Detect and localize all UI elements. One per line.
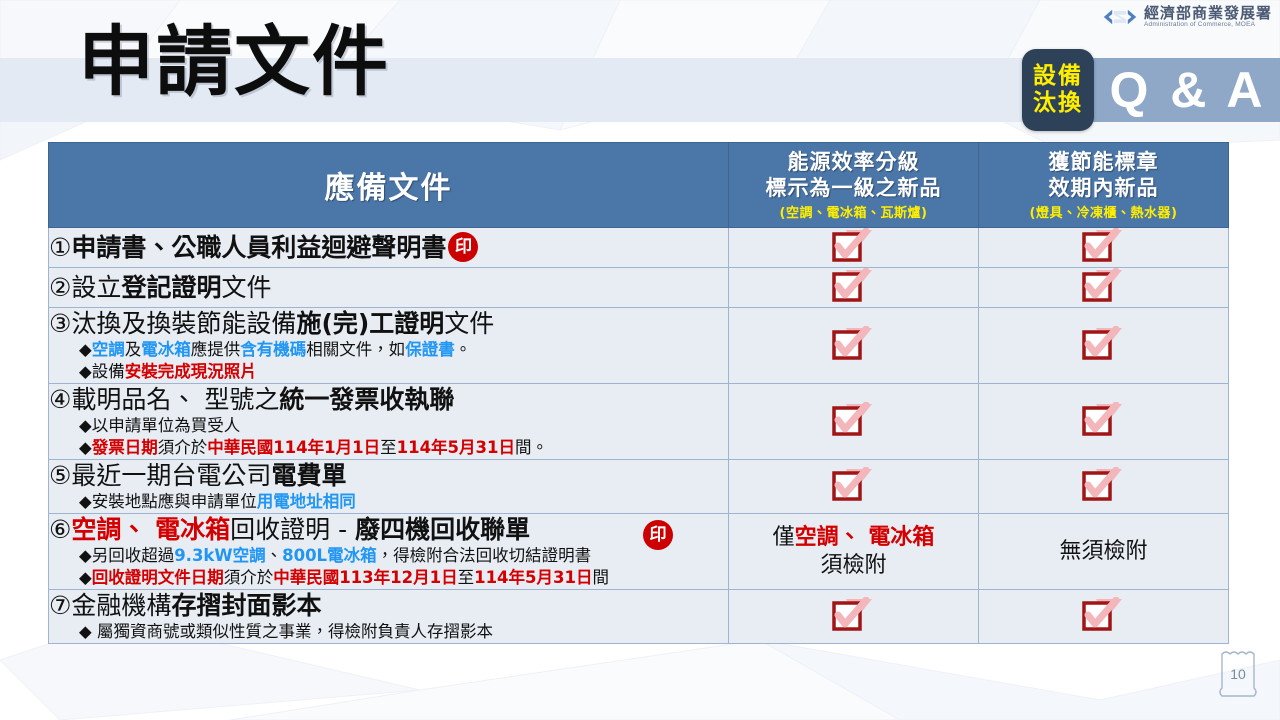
document-note-4-1-seg-0: ◆ xyxy=(79,416,92,435)
document-note-6-2-seg-5: 114年5月31日 xyxy=(474,568,592,587)
requirement-energy-grade-row-1 xyxy=(729,228,979,268)
document-index-3: ③ xyxy=(49,309,71,338)
col-header-energy-label-line2: 效期內新品 xyxy=(983,175,1224,201)
document-note-3-1: ◆空調及電冰箱應提供含有機碼相關文件，如保證書。 xyxy=(79,339,728,361)
document-note-3-1-seg-8: 。 xyxy=(455,340,472,359)
document-note-7-1-seg-0: ◆ xyxy=(79,622,97,641)
document-cell-2: ②設立登記證明文件 xyxy=(49,268,729,308)
document-note-5-1-seg-2: 用電地址相同 xyxy=(257,492,356,511)
document-note-7-1-seg-1: 屬獨資商號或類似性質之事業，得檢附負責人存摺影本 xyxy=(97,622,493,641)
document-title-2-seg-0: 設立 xyxy=(71,273,121,302)
requirement-energy-label-row-6-line-1: 無須檢附 xyxy=(979,538,1228,566)
checkbox-checked-icon xyxy=(832,268,876,302)
document-note-3-1-seg-1: 空調 xyxy=(92,340,125,359)
table-row: ②設立登記證明文件 xyxy=(49,268,1229,308)
table-header-row: 應備文件 能源效率分級 標示為一級之新品 (空調、電冰箱、瓦斯爐) 獲節能標章 … xyxy=(49,143,1229,228)
table-body: ①申請書、公職人員利益迴避聲明書印②設立登記證明文件③汰換及換裝節能設備施(完)… xyxy=(49,228,1229,644)
document-note-6-1-seg-0: ◆ xyxy=(79,546,92,565)
table-row: ⑥空調、 電冰箱回收證明 - 廢四機回收聯單◆另回收超過9.3kW空調、800L… xyxy=(49,514,1229,590)
requirement-energy-grade-row-6-line-2: 須檢附 xyxy=(729,552,978,580)
checkbox-checked-icon xyxy=(1082,467,1126,501)
document-title-3-seg-2: 文件 xyxy=(444,309,494,338)
document-note-3-2-seg-0: ◆ xyxy=(79,362,92,381)
document-note-3-1-seg-4: 應提供 xyxy=(191,340,241,359)
page-number-text: 10 xyxy=(1214,648,1262,700)
requirement-energy-grade-row-6-line-1-seg-1: 空調、 電冰箱 xyxy=(795,525,935,550)
document-index-1: ① xyxy=(49,233,71,262)
col-header-documents-label: 應備文件 xyxy=(53,163,724,207)
document-title-7-seg-1: 存摺封面影本 xyxy=(171,591,321,620)
document-title-3: ③汰換及換裝節能設備施(完)工證明文件 xyxy=(49,308,728,339)
document-title-4: ④載明品名、 型號之統一發票收執聯 xyxy=(49,384,728,415)
moea-logo-text: 經濟部商業發展署 Administration of Commerce, MOE… xyxy=(1144,6,1272,29)
table-row: ①申請書、公職人員利益迴避聲明書印 xyxy=(49,228,1229,268)
document-note-5-1: ◆安裝地點應與申請單位用電地址相同 xyxy=(79,491,728,513)
table-row: ⑦金融機構存摺封面影本◆ 屬獨資商號或類似性質之事業，得檢附負責人存摺影本 xyxy=(49,590,1229,644)
moea-logo-en: Administration of Commerce, MOEA xyxy=(1144,22,1272,29)
checkbox-checked-icon xyxy=(832,326,876,360)
document-note-6-1-seg-4: 800L電冰箱 xyxy=(282,546,376,565)
document-note-3-1-seg-3: 電冰箱 xyxy=(141,340,191,359)
document-title-2-seg-1: 登記證明 xyxy=(121,273,221,302)
moea-infinity-logo-icon xyxy=(1102,7,1138,27)
requirement-energy-label-row-6-line-1-seg-0: 無須檢附 xyxy=(1059,539,1147,564)
col-header-energy-grade-line1: 能源效率分級 xyxy=(733,149,974,175)
page-number: 10 xyxy=(1214,648,1262,700)
document-title-7: ⑦金融機構存摺封面影本 xyxy=(49,590,728,621)
document-cell-1: ①申請書、公職人員利益迴避聲明書印 xyxy=(49,228,729,268)
checkbox-checked-icon xyxy=(832,467,876,501)
document-title-5-seg-1: 電費單 xyxy=(271,461,346,490)
requirement-energy-label-row-7 xyxy=(979,590,1229,644)
col-header-energy-label-line1: 獲節能標章 xyxy=(983,149,1224,175)
col-header-energy-grade-line2: 標示為一級之新品 xyxy=(733,175,974,201)
document-index-6: ⑥ xyxy=(49,515,71,544)
document-note-4-2-seg-6: 間。 xyxy=(515,438,548,457)
slide-header: 申請文件 Q & A 設備 汰換 經濟部商業發展署 Administration… xyxy=(0,0,1280,140)
checkbox-checked-icon xyxy=(1082,228,1126,262)
document-cell-3: ③汰換及換裝節能設備施(完)工證明文件◆空調及電冰箱應提供含有機碼相關文件，如保… xyxy=(49,308,729,384)
document-note-6-1-seg-3: 、 xyxy=(266,546,283,565)
requirement-energy-grade-row-6-line-1: 僅空調、 電冰箱 xyxy=(729,524,978,552)
document-note-4-2-seg-5: 114年5月31日 xyxy=(397,438,515,457)
col-header-documents: 應備文件 xyxy=(49,143,729,228)
document-title-1: ①申請書、公職人員利益迴避聲明書印 xyxy=(49,232,728,264)
document-note-7-1: ◆ 屬獨資商號或類似性質之事業，得檢附負責人存摺影本 xyxy=(79,621,728,643)
document-note-6-2-seg-4: 至 xyxy=(458,568,475,587)
document-note-4-2-seg-0: ◆ xyxy=(79,438,92,457)
document-title-2-seg-2: 文件 xyxy=(221,273,271,302)
seal-stamp-icon: 印 xyxy=(448,232,478,262)
document-index-5: ⑤ xyxy=(49,461,71,490)
document-note-3-2: ◆設備安裝完成現況照片 xyxy=(79,361,728,383)
document-note-6-2-seg-2: 須介於 xyxy=(224,568,274,587)
table-row: ③汰換及換裝節能設備施(完)工證明文件◆空調及電冰箱應提供含有機碼相關文件，如保… xyxy=(49,308,1229,384)
document-note-6-1-seg-1: 另回收超過 xyxy=(92,546,175,565)
document-title-6-seg-1: 回收證明 - xyxy=(230,515,355,544)
document-title-4-seg-0: 載明品名、 型號之 xyxy=(71,385,279,414)
document-note-4-2-seg-1: 發票日期 xyxy=(92,438,158,457)
equip-badge-line2: 汰換 xyxy=(1033,90,1083,117)
col-header-energy-label: 獲節能標章 效期內新品 (燈具、冷凍櫃、熱水器) xyxy=(979,143,1229,228)
document-title-2: ②設立登記證明文件 xyxy=(49,272,728,303)
document-note-6-1-seg-2: 9.3kW空調 xyxy=(174,546,265,565)
requirement-energy-grade-row-7 xyxy=(729,590,979,644)
table-row: ⑤最近一期台電公司電費單◆安裝地點應與申請單位用電地址相同 xyxy=(49,460,1229,514)
col-header-energy-grade: 能源效率分級 標示為一級之新品 (空調、電冰箱、瓦斯爐) xyxy=(729,143,979,228)
checkbox-checked-icon xyxy=(832,228,876,262)
document-cell-7: ⑦金融機構存摺封面影本◆ 屬獨資商號或類似性質之事業，得檢附負責人存摺影本 xyxy=(49,590,729,644)
document-note-6-2: ◆回收證明文件日期須介於中華民國113年12月1日至114年5月31日間 xyxy=(79,567,728,589)
document-title-6-seg-0: 空調、 電冰箱 xyxy=(71,515,230,544)
col-header-energy-label-sub: (燈具、冷凍櫃、熱水器) xyxy=(983,202,1224,221)
document-note-6-2-seg-0: ◆ xyxy=(79,568,92,587)
requirement-energy-grade-row-6: 僅空調、 電冰箱須檢附 xyxy=(729,514,979,590)
requirement-energy-grade-row-5 xyxy=(729,460,979,514)
requirement-energy-grade-row-6-line-1-seg-0: 僅 xyxy=(773,525,795,550)
document-index-2: ② xyxy=(49,273,71,302)
seal-stamp-icon: 印 xyxy=(643,520,673,550)
document-note-3-1-seg-7: 保證書 xyxy=(405,340,455,359)
page-title: 申請文件 xyxy=(78,22,390,102)
document-cell-5: ⑤最近一期台電公司電費單◆安裝地點應與申請單位用電地址相同 xyxy=(49,460,729,514)
requirement-energy-grade-row-6-line-2-seg-0: 須檢附 xyxy=(820,553,886,578)
table-row: ④載明品名、 型號之統一發票收執聯◆以申請單位為買受人◆發票日期須介於中華民國1… xyxy=(49,384,1229,460)
equip-badge-line1: 設備 xyxy=(1033,63,1083,90)
document-note-3-1-seg-6: 相關文件，如 xyxy=(306,340,405,359)
document-title-5-seg-0: 最近一期台電公司 xyxy=(71,461,271,490)
requirement-energy-grade-row-4 xyxy=(729,384,979,460)
document-note-4-2-seg-2: 須介於 xyxy=(158,438,208,457)
checkbox-checked-icon xyxy=(832,402,876,436)
qa-label: Q & A xyxy=(1098,57,1278,123)
requirement-energy-label-row-6: 無須檢附 xyxy=(979,514,1229,590)
document-title-3-seg-0: 汰換及換裝節能設備 xyxy=(71,309,296,338)
checkbox-checked-icon xyxy=(832,597,876,631)
document-title-3-seg-1: 施(完)工證明 xyxy=(296,309,444,338)
moea-logo-cn: 經濟部商業發展署 xyxy=(1144,6,1272,22)
document-title-4-seg-1: 統一發票收執聯 xyxy=(279,385,454,414)
col-header-energy-grade-sub: (空調、電冰箱、瓦斯爐) xyxy=(733,202,974,221)
requirement-energy-label-row-4 xyxy=(979,384,1229,460)
document-note-6-1: ◆另回收超過9.3kW空調、800L電冰箱，得檢附合法回收切結證明書 xyxy=(79,545,728,567)
document-index-4: ④ xyxy=(49,385,71,414)
checkbox-checked-icon xyxy=(1082,268,1126,302)
requirement-energy-label-row-5 xyxy=(979,460,1229,514)
document-note-6-2-seg-6: 間 xyxy=(592,568,609,587)
document-note-6-2-seg-3: 中華民國113年12月1日 xyxy=(273,568,457,587)
document-note-4-2-seg-4: 至 xyxy=(380,438,397,457)
document-note-3-1-seg-5: 含有機碼 xyxy=(240,340,306,359)
document-note-4-2: ◆發票日期須介於中華民國114年1月1日至114年5月31日間。 xyxy=(79,437,728,459)
document-title-5: ⑤最近一期台電公司電費單 xyxy=(49,460,728,491)
document-note-5-1-seg-1: 安裝地點應與申請單位 xyxy=(92,492,257,511)
requirement-energy-grade-row-2 xyxy=(729,268,979,308)
document-title-6-seg-2: 廢四機回收聯單 xyxy=(355,515,530,544)
requirement-energy-grade-row-3 xyxy=(729,308,979,384)
document-note-6-1-seg-5: ，得檢附合法回收切結證明書 xyxy=(377,546,592,565)
document-note-4-2-seg-3: 中華民國114年1月1日 xyxy=(207,438,380,457)
document-note-4-1-seg-1: 以申請單位為買受人 xyxy=(92,416,241,435)
document-note-6-2-seg-1: 回收證明文件日期 xyxy=(92,568,224,587)
document-cell-6: ⑥空調、 電冰箱回收證明 - 廢四機回收聯單◆另回收超過9.3kW空調、800L… xyxy=(49,514,729,590)
equipment-replacement-badge: 設備 汰換 xyxy=(1022,49,1094,131)
document-title-1-seg-0: 申請書、公職人員利益迴避聲明書 xyxy=(71,233,446,262)
checkbox-checked-icon xyxy=(1082,326,1126,360)
document-title-7-seg-0: 金融機構 xyxy=(71,591,171,620)
moea-logo: 經濟部商業發展署 Administration of Commerce, MOE… xyxy=(1102,6,1272,29)
document-title-6: ⑥空調、 電冰箱回收證明 - 廢四機回收聯單 xyxy=(49,514,728,545)
requirement-energy-label-row-3 xyxy=(979,308,1229,384)
required-documents-table: 應備文件 能源效率分級 標示為一級之新品 (空調、電冰箱、瓦斯爐) 獲節能標章 … xyxy=(48,142,1229,644)
document-cell-4: ④載明品名、 型號之統一發票收執聯◆以申請單位為買受人◆發票日期須介於中華民國1… xyxy=(49,384,729,460)
checkbox-checked-icon xyxy=(1082,402,1126,436)
document-note-5-1-seg-0: ◆ xyxy=(79,492,92,511)
requirement-energy-label-row-2 xyxy=(979,268,1229,308)
document-note-3-1-seg-2: 及 xyxy=(125,340,142,359)
requirement-energy-label-row-1 xyxy=(979,228,1229,268)
document-note-3-2-seg-1: 設備 xyxy=(92,362,125,381)
document-index-7: ⑦ xyxy=(49,591,71,620)
checkbox-checked-icon xyxy=(1082,597,1126,631)
document-note-3-1-seg-0: ◆ xyxy=(79,340,92,359)
document-note-3-2-seg-2: 安裝完成現況照片 xyxy=(125,362,257,381)
document-note-4-1: ◆以申請單位為買受人 xyxy=(79,415,728,437)
